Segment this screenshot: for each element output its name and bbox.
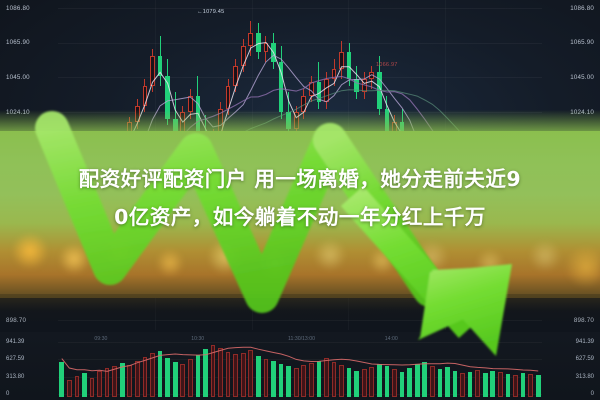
volume-bar (536, 375, 541, 397)
volume-tick-label: 941.39 (576, 339, 594, 345)
volume-bar (279, 364, 284, 397)
price-tick-label: 1086.80 (570, 5, 594, 12)
volume-bar (362, 369, 367, 397)
candle-body (354, 79, 359, 92)
volume-bar (324, 358, 329, 397)
volume-bar (75, 376, 80, 397)
candle-body (271, 43, 276, 63)
volume-bar (271, 361, 276, 397)
candle-body (279, 62, 284, 112)
price-tick-label: 1045.00 (570, 74, 594, 81)
candle-body (158, 56, 163, 76)
candle-body (362, 79, 367, 92)
candle-body (248, 33, 253, 46)
time-tick-label: 09:30 (94, 336, 107, 342)
volume-bar (528, 374, 533, 397)
candle-body (309, 82, 314, 95)
price-tick-label: 1065.90 (6, 39, 30, 46)
volume-gridline (58, 359, 542, 360)
candle-body (241, 46, 246, 66)
volume-bar (105, 368, 110, 397)
volume-bar (460, 373, 465, 397)
candle-body (264, 43, 269, 53)
page-title: 配资好评配资门户 用一场离婚，她分走前夫近9 0亿资产，如今躺着不动一年分红上千… (0, 160, 600, 236)
volume-bar (211, 345, 216, 397)
candle-body (226, 86, 231, 109)
volume-bar (82, 373, 87, 397)
volume-bar (498, 372, 503, 397)
volume-bar (188, 359, 193, 397)
volume-bar (286, 366, 291, 397)
volume-bar (264, 359, 269, 397)
candle-body (256, 33, 261, 53)
volume-bar (241, 353, 246, 397)
volume-bar (309, 363, 314, 397)
volume-bar (354, 371, 359, 398)
volume-bar (483, 373, 488, 397)
volume-bar (248, 350, 253, 398)
time-tick-label: 14:00 (385, 336, 398, 342)
volume-bar (143, 357, 148, 397)
time-tick-label: 15:00 (482, 336, 495, 342)
candle-body (377, 72, 382, 108)
volume-tick-label: 0 (591, 391, 594, 397)
volume-bar (392, 369, 397, 397)
volume-bar (165, 358, 170, 397)
volume-bar (135, 361, 140, 397)
volume-bar (294, 368, 299, 397)
volume-bar (317, 361, 322, 397)
volume-bar (347, 368, 352, 397)
volume-tick-label: 941.39 (6, 339, 24, 345)
chart-screenshot: 1086.801065.901045.001024.101003.20982.3… (0, 0, 600, 400)
price-tick-label: 1086.80 (6, 5, 30, 12)
volume-bar (415, 364, 420, 397)
candle-body (332, 69, 337, 79)
volume-bar (90, 378, 95, 397)
volume-bar (422, 362, 427, 397)
volume-bar (475, 370, 480, 397)
volume-bar (332, 362, 337, 397)
price-tick-label: 1045.00 (6, 74, 30, 81)
volume-bar (369, 367, 374, 397)
price-tick-label: 1065.90 (570, 39, 594, 46)
volume-tick-label: 627.59 (6, 356, 24, 362)
banner-fade-bottom (0, 294, 600, 324)
volume-bar (490, 371, 495, 397)
volume-tick-label: 313.80 (576, 374, 594, 380)
volume-bar (438, 369, 443, 397)
volume-tick-label: 313.80 (6, 374, 24, 380)
annotation-period-high: ←1079.45 (197, 9, 224, 15)
candle-body (347, 52, 352, 79)
gridline (58, 43, 542, 44)
volume-bar (150, 353, 155, 397)
volume-bar (256, 356, 261, 397)
candle-body (339, 52, 344, 69)
volume-bar (158, 351, 163, 397)
volume-bar (301, 365, 306, 397)
volume-bar (180, 364, 185, 397)
volume-tick-label: 0 (6, 391, 9, 397)
volume-bar (97, 371, 102, 397)
volume-bar (196, 355, 201, 397)
volume-bar (400, 372, 405, 397)
volume-bar (233, 354, 238, 397)
candle-body (324, 79, 329, 102)
annotation-swing-marker: 1066.97 (376, 62, 398, 68)
volume-bar (385, 366, 390, 397)
volume-bar (339, 365, 344, 397)
volume-tick-label: 627.59 (576, 356, 594, 362)
gridline (58, 77, 542, 78)
volume-bar (506, 374, 511, 397)
volume-bar (120, 363, 125, 397)
gridline (58, 8, 542, 9)
volume-bar (218, 348, 223, 397)
volume-bar (127, 365, 132, 397)
volume-bar (203, 349, 208, 397)
volume-gridline (58, 342, 542, 343)
candle-body (233, 66, 238, 86)
volume-bar (513, 375, 518, 397)
volume-bar (430, 366, 435, 397)
time-tick-label: 11:30/13:00 (288, 336, 315, 342)
candle-body (369, 72, 374, 79)
headline-line-1: 配资好评配资门户 用一场离婚，她分走前夫近9 (0, 160, 600, 198)
volume-bar (112, 366, 117, 397)
volume-bar (468, 372, 473, 397)
candle-body (143, 86, 148, 106)
volume-bar (453, 371, 458, 397)
headline-line-2: 0亿资产，如今躺着不动一年分红上千万 (0, 198, 600, 236)
volume-panel: 941.39627.59313.800 941.39627.59313.800 (0, 332, 600, 400)
volume-bar (226, 352, 231, 397)
time-tick-label: 10:30 (191, 336, 204, 342)
candle-body (317, 82, 322, 102)
volume-bar (377, 364, 382, 397)
volume-bar (67, 380, 72, 397)
volume-bar (445, 367, 450, 397)
volume-bar (173, 362, 178, 397)
volume-bar (407, 368, 412, 397)
candle-body (150, 56, 155, 86)
volume-bar (521, 373, 526, 397)
volume-bar (59, 362, 64, 397)
